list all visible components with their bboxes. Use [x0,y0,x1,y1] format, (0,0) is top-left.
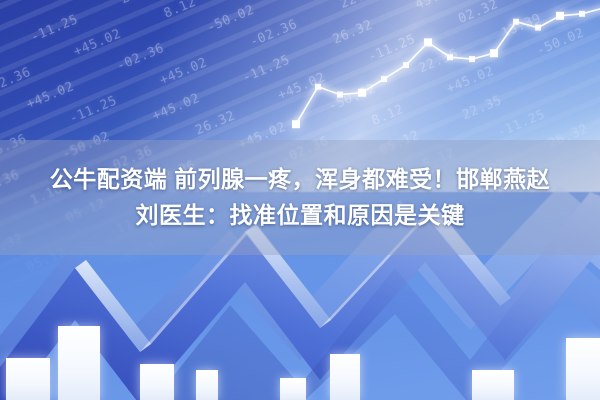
page-title: 公牛配资端 前列腺一疼，浑身都难受！邯郸燕赵 刘医生：找准位置和原因是关键 [0,140,600,255]
article-banner: -02.36+45.02-11.2521.3945.02-02.36+45.02… [0,0,600,400]
headline-line-1: 公牛配资端 前列腺一疼，浑身都难受！邯郸燕赵 [50,163,550,196]
headline-line-2: 刘医生：找准位置和原因是关键 [136,199,465,232]
